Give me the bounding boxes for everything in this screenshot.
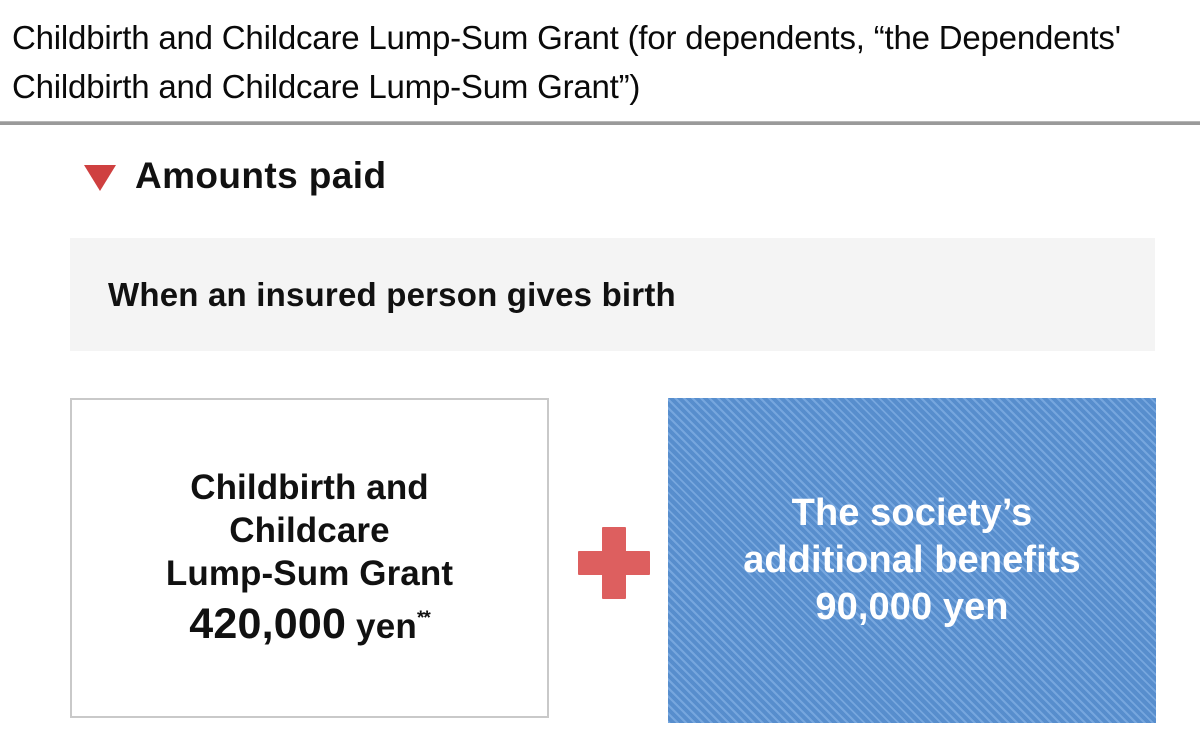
grant-amount-card-value: 420,000 yen** (189, 601, 430, 648)
plus-icon-vertical-bar (602, 527, 626, 599)
triangle-down-icon (84, 165, 116, 191)
additional-benefit-card-text: The society’s additional benefits 90,000… (731, 490, 1093, 631)
amount-breakdown-row: Childbirth and Childcare Lump-Sum Grant … (0, 398, 1200, 724)
additional-benefit-card: The society’s additional benefits 90,000… (668, 398, 1156, 723)
grant-amount-unit: yen (356, 607, 417, 646)
grant-amount-footnote-mark: ** (417, 608, 430, 629)
section-heading-label: Amounts paid (135, 157, 386, 194)
grant-amount-number: 420,000 (189, 600, 346, 648)
page-title: Childbirth and Childcare Lump-Sum Grant … (12, 14, 1192, 112)
condition-banner: When an insured person gives birth (70, 238, 1155, 351)
page-root: Childbirth and Childcare Lump-Sum Grant … (0, 0, 1200, 747)
plus-icon (578, 527, 650, 599)
condition-banner-text: When an insured person gives birth (108, 276, 676, 314)
section-heading: Amounts paid (84, 157, 386, 194)
grant-amount-card-title: Childbirth and Childcare Lump-Sum Grant (166, 467, 453, 595)
grant-amount-card: Childbirth and Childcare Lump-Sum Grant … (70, 398, 549, 718)
title-divider (0, 121, 1200, 125)
